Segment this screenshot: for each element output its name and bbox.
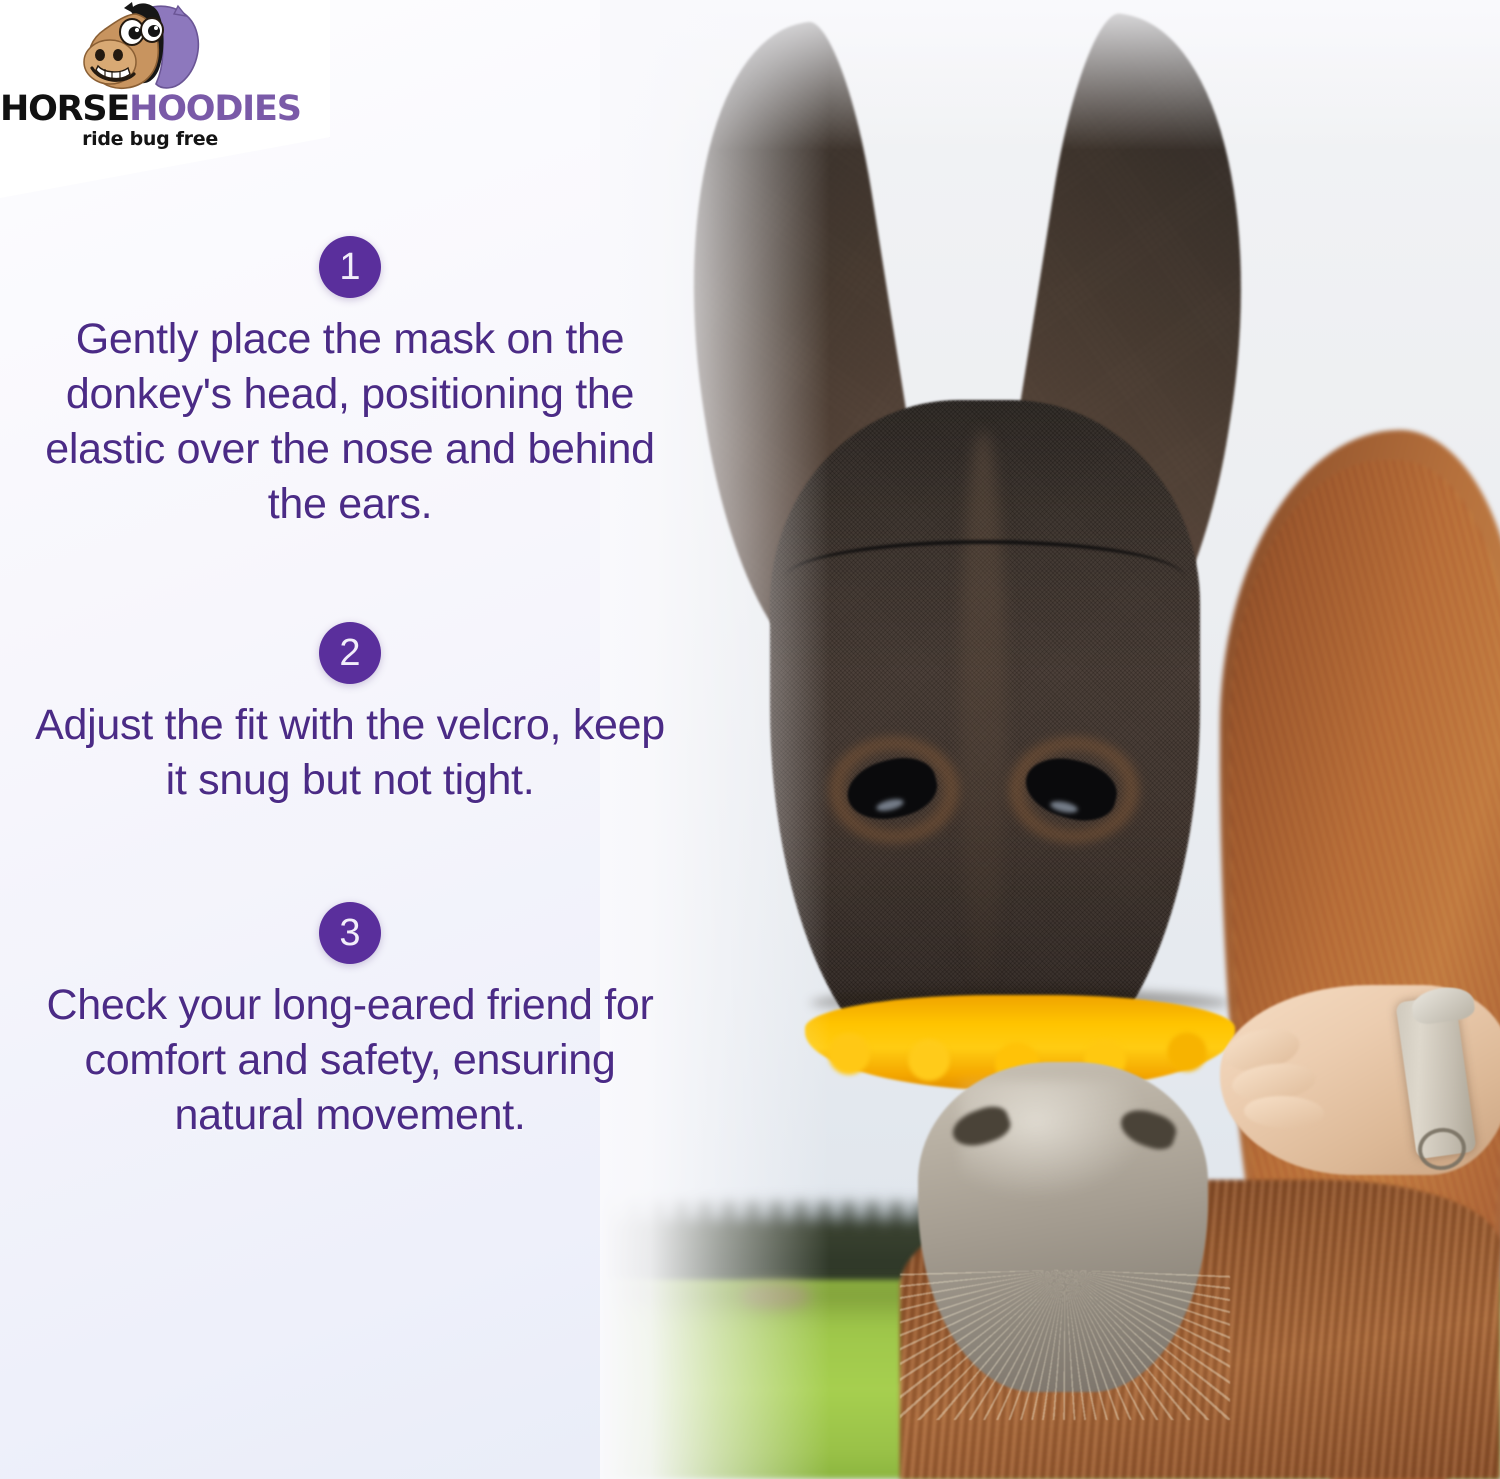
- step-item-3: 3 Check your long-eared friend for comfo…: [0, 902, 700, 1143]
- donkey: [600, 0, 1500, 1479]
- brand-wordmark-hoodies: HOODIES: [129, 89, 301, 129]
- forehead-ridge: [960, 430, 1006, 990]
- steps-panel: 1 Gently place the mask on the donkey's …: [0, 0, 700, 1479]
- step-text-2: Adjust the fit with the velcro, keep it …: [0, 698, 700, 808]
- instruction-graphic: HORSEHOODIES ride bug free 1 Gently plac…: [0, 0, 1500, 1479]
- cartoon-horse-head-icon: [78, 0, 208, 96]
- step-number-badge-2: 2: [319, 622, 381, 684]
- brand-tagline: ride bug free: [0, 128, 300, 150]
- step-number-badge-3: 3: [319, 902, 381, 964]
- donkey-photo: [600, 0, 1500, 1479]
- step-item-1: 1 Gently place the mask on the donkey's …: [0, 236, 700, 532]
- step-item-2: 2 Adjust the fit with the velcro, keep i…: [0, 622, 700, 808]
- brand-wordmark: HORSEHOODIES: [0, 92, 300, 127]
- brand-wordmark-horse: HORSE: [0, 89, 129, 129]
- donkey-whiskers: [900, 1270, 1230, 1420]
- step-text-3: Check your long-eared friend for comfort…: [0, 978, 700, 1143]
- step-number-badge-1: 1: [319, 236, 381, 298]
- step-text-1: Gently place the mask on the donkey's he…: [0, 312, 700, 532]
